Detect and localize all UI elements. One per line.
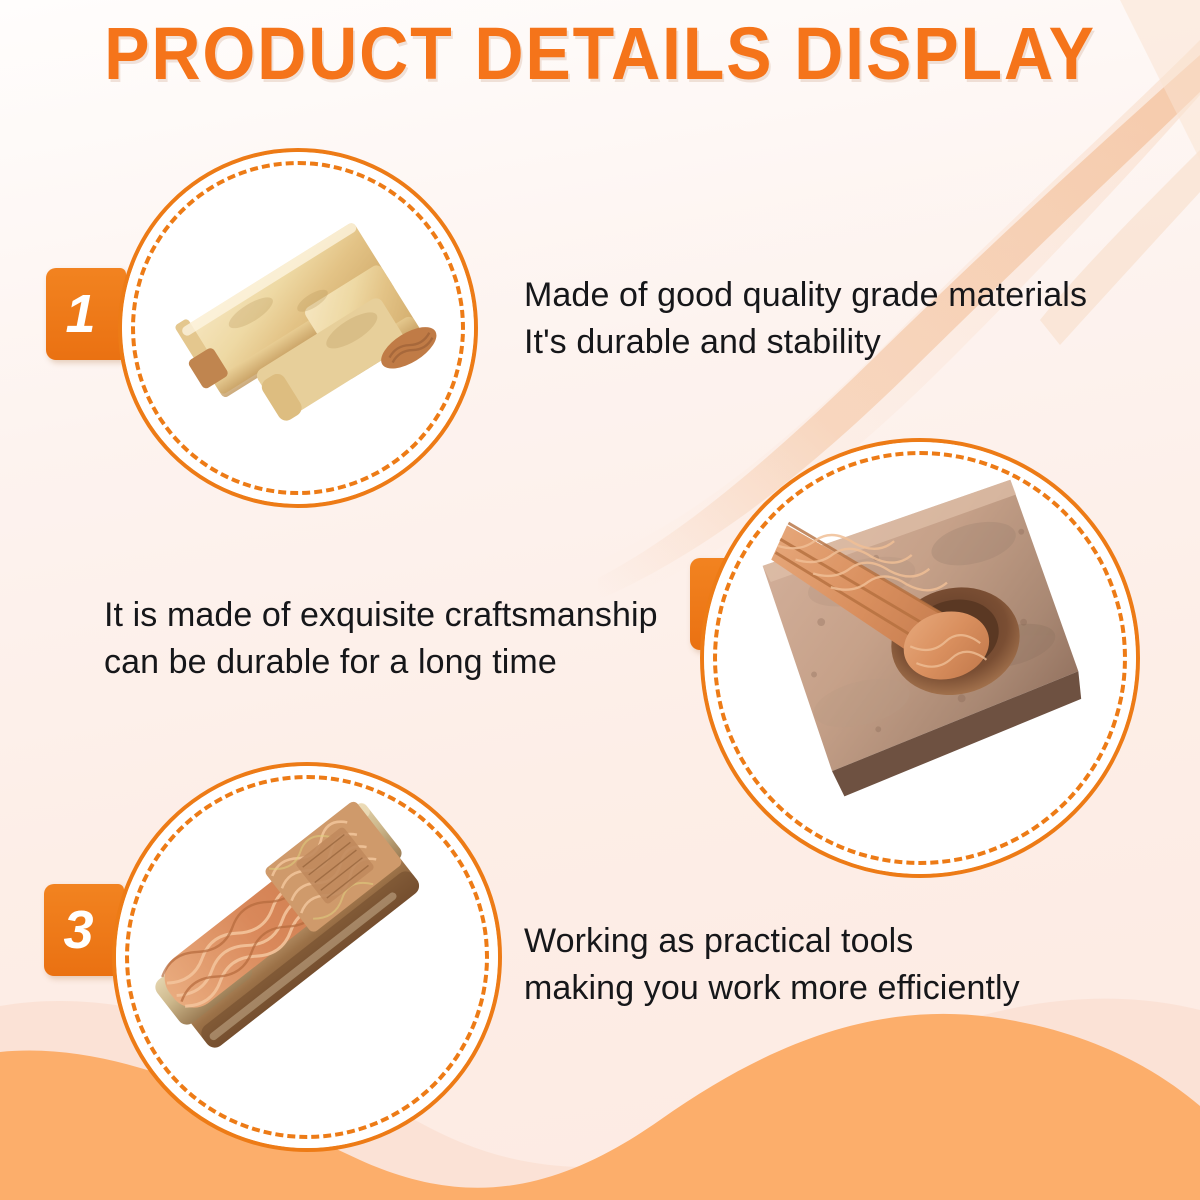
product-photo-circle-3 [112,762,502,1152]
feature-text-3: Working as practical tools making you wo… [524,918,1084,1012]
product-details-display: PRODUCT DETAILS DISPLAY [0,0,1200,1200]
product-photo-circle-2 [700,438,1140,878]
feature-text-1: Made of good quality grade materials It'… [524,272,1124,366]
product-image-2 [704,442,1136,874]
step-badge-1: 1 [46,268,126,360]
product-image-3 [116,766,498,1148]
page-title: PRODUCT DETAILS DISPLAY [104,14,1096,94]
feature-2-line-2: can be durable for a long time [104,639,684,686]
feature-1-line-2: It's durable and stability [524,319,1124,366]
feature-1-line-1: Made of good quality grade materials [524,272,1124,319]
feature-3-line-1: Working as practical tools [524,918,1084,965]
product-photo-circle-1 [118,148,478,508]
product-image-1 [122,152,474,504]
feature-3-line-2: making you work more efficiently [524,965,1084,1012]
feature-text-2: It is made of exquisite craftsmanship ca… [104,592,684,686]
page-title-wrap: PRODUCT DETAILS DISPLAY [0,14,1200,94]
feature-2-line-1: It is made of exquisite craftsmanship [104,592,684,639]
